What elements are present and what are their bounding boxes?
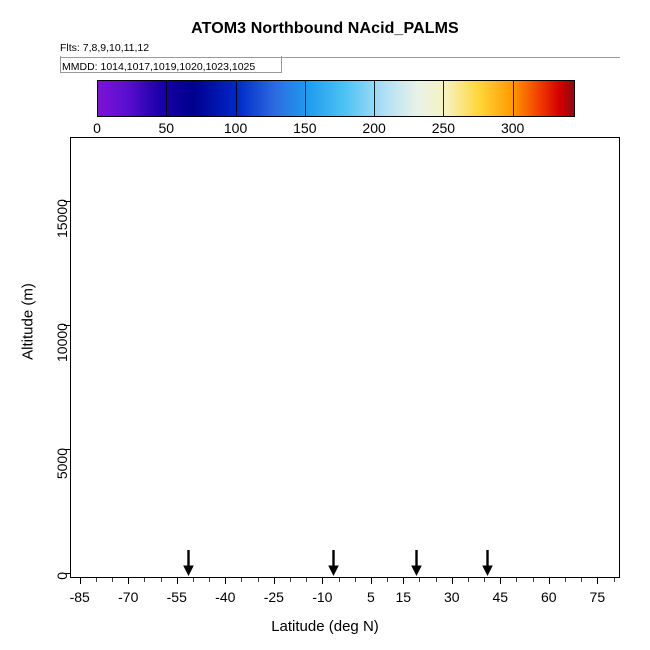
colorbar-tick <box>513 80 514 117</box>
page-title: ATOM3 Northbound NAcid_PALMS <box>0 20 650 38</box>
profile-arrow-icon <box>410 550 423 576</box>
x-axis-tick-label: -40 <box>215 589 235 605</box>
x-axis-tick-label: 5 <box>367 589 375 605</box>
x-axis-minor-tick <box>436 578 437 582</box>
colorbar-tick <box>166 80 167 117</box>
figure-root: ATOM3 Northbound NAcid_PALMS Flts: 7,8,9… <box>0 0 650 650</box>
y-axis-tick-label: 10000 <box>54 324 70 362</box>
x-axis-tick-label: 75 <box>590 589 606 605</box>
colorbar-tick-label: 250 <box>432 120 455 136</box>
colorbar-tick-label: 150 <box>293 120 316 136</box>
x-axis-minor-tick <box>339 578 340 582</box>
x-axis-minor-tick <box>468 578 469 582</box>
x-axis-tick-label: -25 <box>264 589 284 605</box>
x-axis-minor-tick <box>306 578 307 582</box>
y-axis-tick-label: 0 <box>54 572 70 610</box>
x-axis-minor-tick <box>387 578 388 582</box>
x-axis-minor-tick <box>80 578 81 582</box>
x-axis-minor-tick <box>500 578 501 582</box>
y-axis-label: Altitude (m) <box>20 232 37 412</box>
x-axis-minor-tick <box>614 578 615 582</box>
x-axis-tick-label: 60 <box>541 589 557 605</box>
x-axis-minor-tick <box>209 578 210 582</box>
x-axis-minor-tick <box>549 578 550 582</box>
plot-frame <box>70 137 620 578</box>
x-axis-minor-tick <box>112 578 113 582</box>
colorbar-tick-label: 200 <box>362 120 385 136</box>
x-axis-minor-tick <box>290 578 291 582</box>
x-axis-minor-tick <box>241 578 242 582</box>
x-axis-minor-tick <box>419 578 420 582</box>
colorbar-tick-label: 50 <box>158 120 174 136</box>
x-axis-minor-tick <box>484 578 485 582</box>
mmdd-annotation: MMDD: 1014,1017,1019,1020,1023,1025 <box>62 61 255 73</box>
profile-arrow-icon <box>182 550 195 576</box>
x-axis-minor-tick <box>403 578 404 582</box>
profile-arrow-icon <box>327 550 340 576</box>
x-axis-minor-tick <box>565 578 566 582</box>
x-axis-tick-label: 15 <box>395 589 411 605</box>
colorbar-tick <box>374 80 375 117</box>
x-axis-minor-tick <box>177 578 178 582</box>
x-axis-minor-tick <box>225 578 226 582</box>
x-axis-minor-tick <box>355 578 356 582</box>
x-axis-tick-label: 30 <box>444 589 460 605</box>
x-axis-minor-tick <box>371 578 372 582</box>
x-axis-minor-tick <box>128 578 129 582</box>
x-axis-minor-tick <box>193 578 194 582</box>
x-axis-minor-tick <box>581 578 582 582</box>
colorbar-tick-label: 300 <box>501 120 524 136</box>
colorbar <box>97 80 575 117</box>
x-axis-label: Latitude (deg N) <box>0 618 650 635</box>
x-axis-minor-tick <box>96 578 97 582</box>
colorbar-tick-label: 100 <box>224 120 247 136</box>
x-axis-tick-label: -70 <box>118 589 138 605</box>
x-axis-minor-tick <box>516 578 517 582</box>
colorbar-tick <box>443 80 444 117</box>
colorbar-tick-label: 0 <box>93 120 101 136</box>
x-axis-minor-tick <box>144 578 145 582</box>
annotation-divider <box>60 57 620 58</box>
y-axis-tick-label: 5000 <box>54 448 70 486</box>
colorbar-tick <box>305 80 306 117</box>
x-axis-minor-tick <box>274 578 275 582</box>
x-axis-minor-tick <box>597 578 598 582</box>
profile-arrow-icon <box>481 550 494 576</box>
x-axis-minor-tick <box>322 578 323 582</box>
x-axis-minor-tick <box>533 578 534 582</box>
x-axis-tick-label: 45 <box>492 589 508 605</box>
colorbar-tick <box>236 80 237 117</box>
flights-annotation: Flts: 7,8,9,10,11,12 <box>60 42 149 54</box>
x-axis-tick-label: -10 <box>312 589 332 605</box>
x-axis-minor-tick <box>452 578 453 582</box>
x-axis-tick-label: -55 <box>167 589 187 605</box>
x-axis-minor-tick <box>258 578 259 582</box>
y-axis-tick-label: 15000 <box>54 200 70 238</box>
x-axis-minor-tick <box>161 578 162 582</box>
colorbar-gradient <box>98 81 574 116</box>
x-axis-tick-label: -85 <box>70 589 90 605</box>
